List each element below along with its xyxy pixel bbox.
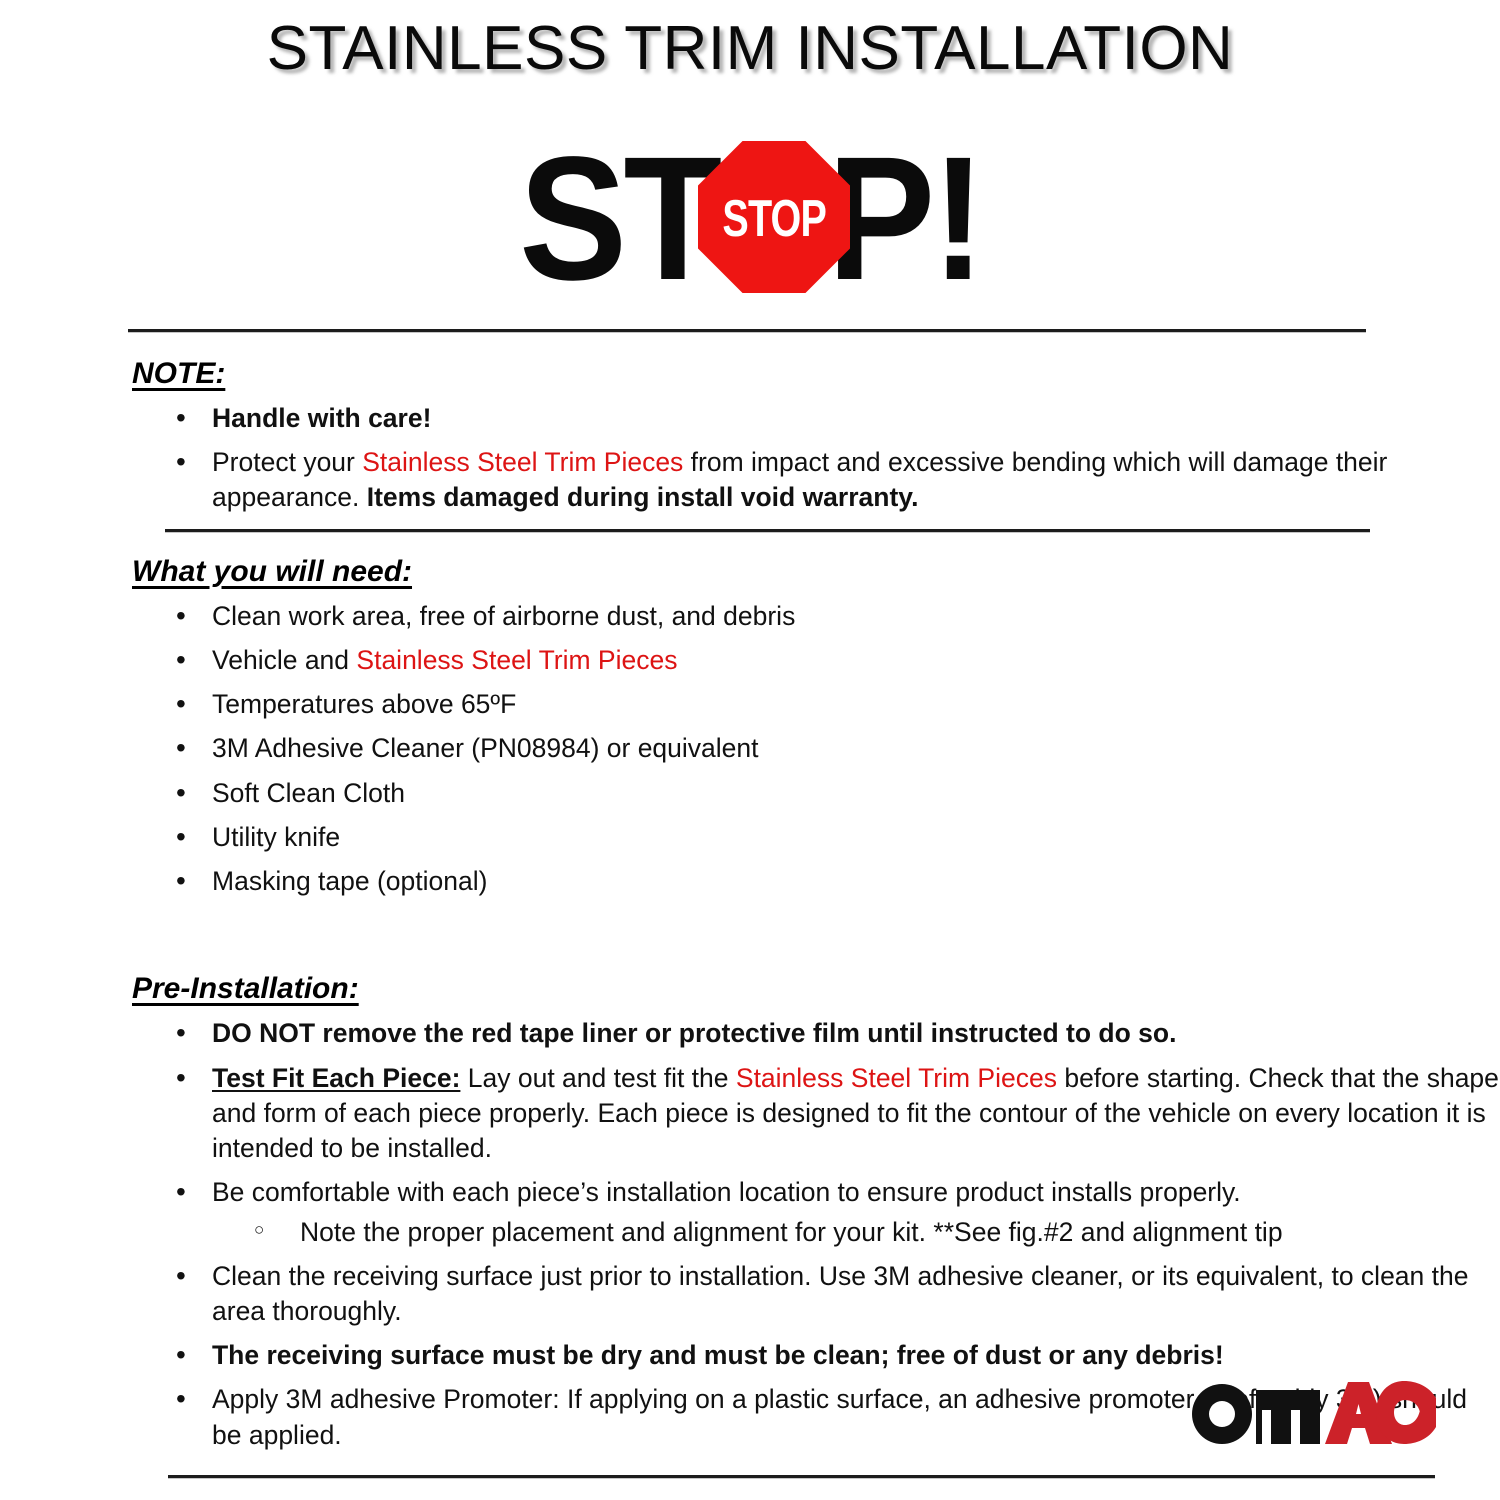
- need-bullet-2-part1: Vehicle and: [212, 645, 356, 675]
- page-title: STAINLESS TRIM INSTALLATION: [0, 0, 1500, 80]
- stop-sign-label: STOP: [722, 192, 826, 244]
- omac-logo-icon: [1188, 1376, 1438, 1448]
- list-item: DO NOT remove the red tape liner or prot…: [0, 1016, 1500, 1051]
- preinstall-bullet-1-text: DO NOT remove the red tape liner or prot…: [212, 1018, 1176, 1048]
- preinstall-sub-bullet-list: Note the proper placement and alignment …: [0, 1215, 1500, 1250]
- preinstall-bullet-4-text: Clean the receiving surface just prior t…: [212, 1261, 1469, 1326]
- need-bullet-3-text: Temperatures above 65ºF: [212, 689, 516, 719]
- stop-logo: STP! STOP: [500, 129, 1000, 309]
- divider-middle: [165, 529, 1370, 532]
- omac-letter-o-counter: [1209, 1401, 1235, 1427]
- list-item: The receiving surface must be dry and mu…: [0, 1338, 1500, 1373]
- heading-note: NOTE:: [132, 356, 1500, 392]
- preinstall-bullet-list: DO NOT remove the red tape liner or prot…: [0, 1016, 1500, 1210]
- preinstall-bullet-2-part1: Lay out and test fit the: [460, 1063, 735, 1093]
- heading-what-you-will-need: What you will need:: [132, 554, 1500, 590]
- list-item: 3M Adhesive Cleaner (PN08984) or equival…: [0, 731, 1500, 766]
- need-bullet-list: Clean work area, free of airborne dust, …: [0, 599, 1500, 900]
- omac-letter-c: [1376, 1381, 1436, 1444]
- list-item: Be comfortable with each piece’s install…: [0, 1175, 1500, 1210]
- list-item: Utility knife: [0, 820, 1500, 855]
- list-item: Temperatures above 65ºF: [0, 687, 1500, 722]
- stop-logo-container: STP! STOP: [0, 124, 1500, 314]
- list-item: Test Fit Each Piece: Lay out and test fi…: [0, 1061, 1500, 1167]
- need-bullet-6-text: Utility knife: [212, 822, 340, 852]
- need-bullet-2-highlight: Stainless Steel Trim Pieces: [356, 645, 677, 675]
- note-bullet-2-bold: Items damaged during install void warran…: [367, 482, 919, 512]
- divider-top: [128, 329, 1366, 332]
- need-bullet-1-text: Clean work area, free of airborne dust, …: [212, 601, 795, 631]
- list-item: Clean work area, free of airborne dust, …: [0, 599, 1500, 634]
- need-bullet-5-text: Soft Clean Cloth: [212, 778, 405, 808]
- list-item: Clean the receiving surface just prior t…: [0, 1259, 1500, 1329]
- preinstall-bullet-2-label: Test Fit Each Piece:: [212, 1063, 460, 1093]
- note-bullet-2-highlight: Stainless Steel Trim Pieces: [362, 447, 683, 477]
- document-body: NOTE: Handle with care! Protect your Sta…: [0, 356, 1500, 1453]
- list-item: Protect your Stainless Steel Trim Pieces…: [0, 445, 1500, 515]
- need-bullet-4-text: 3M Adhesive Cleaner (PN08984) or equival…: [212, 733, 759, 763]
- preinstall-bullet-3-text: Be comfortable with each piece’s install…: [212, 1177, 1241, 1207]
- preinstall-bullet-2-highlight: Stainless Steel Trim Pieces: [736, 1063, 1057, 1093]
- stop-logo-letters-before: ST: [519, 131, 719, 307]
- preinstall-sub-bullet-text: Note the proper placement and alignment …: [300, 1217, 1283, 1247]
- omac-letter-m: [1256, 1390, 1320, 1444]
- heading-pre-installation: Pre-Installation:: [132, 971, 1500, 1007]
- divider-bottom: [168, 1475, 1435, 1478]
- note-bullet-list: Handle with care! Protect your Stainless…: [0, 401, 1500, 516]
- need-bullet-7-text: Masking tape (optional): [212, 866, 487, 896]
- list-item: Handle with care!: [0, 401, 1500, 436]
- list-item: Note the proper placement and alignment …: [0, 1215, 1500, 1250]
- section-spacer: [0, 899, 1500, 971]
- note-bullet-1-text: Handle with care!: [212, 403, 431, 433]
- note-bullet-2-part1: Protect your: [212, 447, 362, 477]
- list-item: Masking tape (optional): [0, 864, 1500, 899]
- omac-logo: [1188, 1372, 1438, 1448]
- preinstall-bullet-5-text: The receiving surface must be dry and mu…: [212, 1340, 1224, 1370]
- stop-sign-icon: STOP: [698, 141, 850, 293]
- list-item: Soft Clean Cloth: [0, 776, 1500, 811]
- list-item: Vehicle and Stainless Steel Trim Pieces: [0, 643, 1500, 678]
